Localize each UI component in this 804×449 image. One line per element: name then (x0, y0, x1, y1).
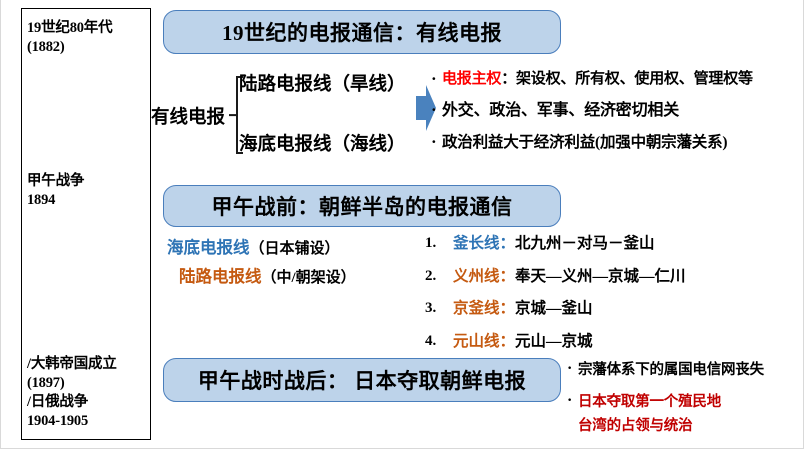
timeline-entry-line: /日俄战争 (27, 393, 151, 412)
list-item: 3.京釜线：京城—釜山 (425, 301, 803, 317)
bullet-text: 政治利益大于经济利益(加强中朝宗藩关系) (442, 134, 727, 151)
list-item-separator: ： (500, 300, 516, 317)
timeline-entry-line: (1897) (27, 374, 151, 393)
list-item: 4.元山线：元山—京城 (425, 334, 803, 350)
section-header-war-aftermath: 甲午战时战后： 日本夺取朝鲜电报 (163, 358, 561, 402)
list-item-separator: ： (500, 235, 516, 252)
bullet-highlight-text: 电报主权 (442, 71, 501, 87)
branch-item-submarine-line: 海底电报线（海线） (239, 130, 406, 156)
section-header-wired-telegraph: 19世纪的电报通信：有线电报 (163, 10, 561, 54)
branch-diagram: 有线电报 陆路电报线（旱线） 海底电报线（海线） (151, 68, 441, 162)
branch-item-land-line: 陆路电报线（旱线） (239, 70, 406, 96)
brace-bracket-icon (229, 76, 239, 154)
list-item-name: 京釜线 (453, 300, 500, 317)
branch-root-label: 有线电报 (151, 103, 225, 129)
bullet-diplomacy-politics: 外交、政治、军事、经济密切相关 (431, 103, 803, 119)
timeline-entry-1880s: 19世纪80年代 (1882) (27, 19, 151, 57)
section3-bullet-list: 宗藩体系下的属国电信网丧失 日本夺取第一个殖民地 台湾的占领与统治 (567, 363, 803, 449)
list-item-route: 京城—釜山 (515, 300, 593, 317)
bullet-first-colony: 日本夺取第一个殖民地 台湾的占领与统治 (567, 395, 803, 434)
list-item-name: 义州线 (453, 268, 500, 285)
section-header-pre-war-korea: 甲午战前：朝鲜半岛的电报通信 (163, 185, 561, 227)
list-item-number: 4. (425, 334, 447, 349)
legend-key: 陆路电报线 (179, 267, 262, 286)
timeline-entry-line: 19世纪80年代 (27, 19, 151, 38)
list-item: 2.义州线：奉天—义州—京城—仁川 (425, 269, 803, 285)
list-item-route: 元山—京城 (515, 333, 593, 350)
timeline-entry-line: /大韩帝国成立 (27, 355, 151, 374)
timeline-entry-line: 1904-1905 (27, 412, 151, 431)
bullet-text: 外交、政治、军事、经济密切相关 (442, 102, 679, 119)
legend-item-land: 陆路电报线（中/朝架设） (167, 269, 402, 286)
list-item-number: 1. (425, 236, 447, 251)
list-item-separator: ： (500, 333, 516, 350)
timeline-entry-line: 甲午战争 (27, 172, 151, 191)
list-item-name: 元山线 (453, 333, 500, 350)
telegraph-lines-list: 1.釜长线：北九州－对马－釜山 2.义州线：奉天—义州—京城—仁川 3.京釜线：… (425, 236, 803, 366)
timeline-entry-1897-1905: /大韩帝国成立 (1897) /日俄战争 1904-1905 (27, 355, 151, 432)
legend-item-submarine: 海底电报线（日本铺设） (167, 240, 402, 257)
legend-key: 海底电报线 (167, 238, 250, 257)
bullet-text: 宗藩体系下的属国电信网丧失 (578, 362, 764, 378)
list-item-name: 釜长线 (453, 235, 500, 252)
timeline-entry-line: (1882) (27, 38, 151, 57)
bullet-political-over-economic: 政治利益大于经济利益(加强中朝宗藩关系) (431, 135, 803, 151)
bullet-text: ：架设权、所有权、使用权、管理权等 (501, 71, 753, 87)
timeline-entry-1894: 甲午战争 1894 (27, 172, 151, 210)
bullet-telegraph-sovereignty: 电报主权：架设权、所有权、使用权、管理权等 (431, 72, 803, 87)
bullet-text-line2: 台湾的占领与统治 (578, 419, 803, 434)
list-item-separator: ： (500, 268, 516, 285)
list-item-route: 北九州－对马－釜山 (515, 235, 655, 252)
legend-note: （日本铺设） (250, 241, 340, 257)
list-item-route: 奉天—义州—京城—仁川 (515, 268, 686, 285)
bullet-text: 日本夺取第一个殖民地 (578, 394, 721, 410)
legend-note: （中/朝架设） (262, 270, 356, 286)
slide-canvas: 19世纪80年代 (1882) 甲午战争 1894 /大韩帝国成立 (1897)… (0, 0, 804, 449)
list-item: 1.釜长线：北九州－对马－釜山 (425, 236, 803, 252)
timeline-box: 19世纪80年代 (1882) 甲午战争 1894 /大韩帝国成立 (1897)… (21, 8, 151, 440)
section1-bullet-list: 电报主权：架设权、所有权、使用权、管理权等 外交、政治、军事、经济密切相关 政治… (431, 72, 803, 167)
bullet-tributary-network-loss: 宗藩体系下的属国电信网丧失 (567, 363, 803, 378)
list-item-number: 2. (425, 269, 447, 284)
list-item-number: 3. (425, 301, 447, 316)
timeline-entry-line: 1894 (27, 191, 151, 210)
legend-block: 海底电报线（日本铺设） 陆路电报线（中/朝架设） (167, 240, 402, 298)
